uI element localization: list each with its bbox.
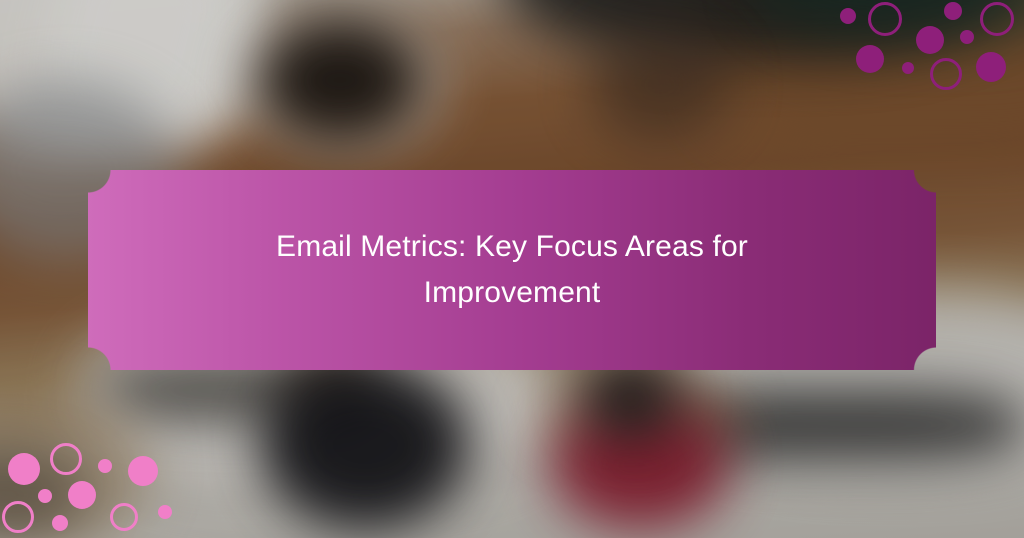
page-root: Email Metrics: Key Focus Areas for Impro… (0, 0, 1024, 538)
title-banner: Email Metrics: Key Focus Areas for Impro… (88, 170, 936, 370)
banner-content: Email Metrics: Key Focus Areas for Impro… (88, 170, 936, 370)
page-title: Email Metrics: Key Focus Areas for Impro… (252, 224, 772, 317)
